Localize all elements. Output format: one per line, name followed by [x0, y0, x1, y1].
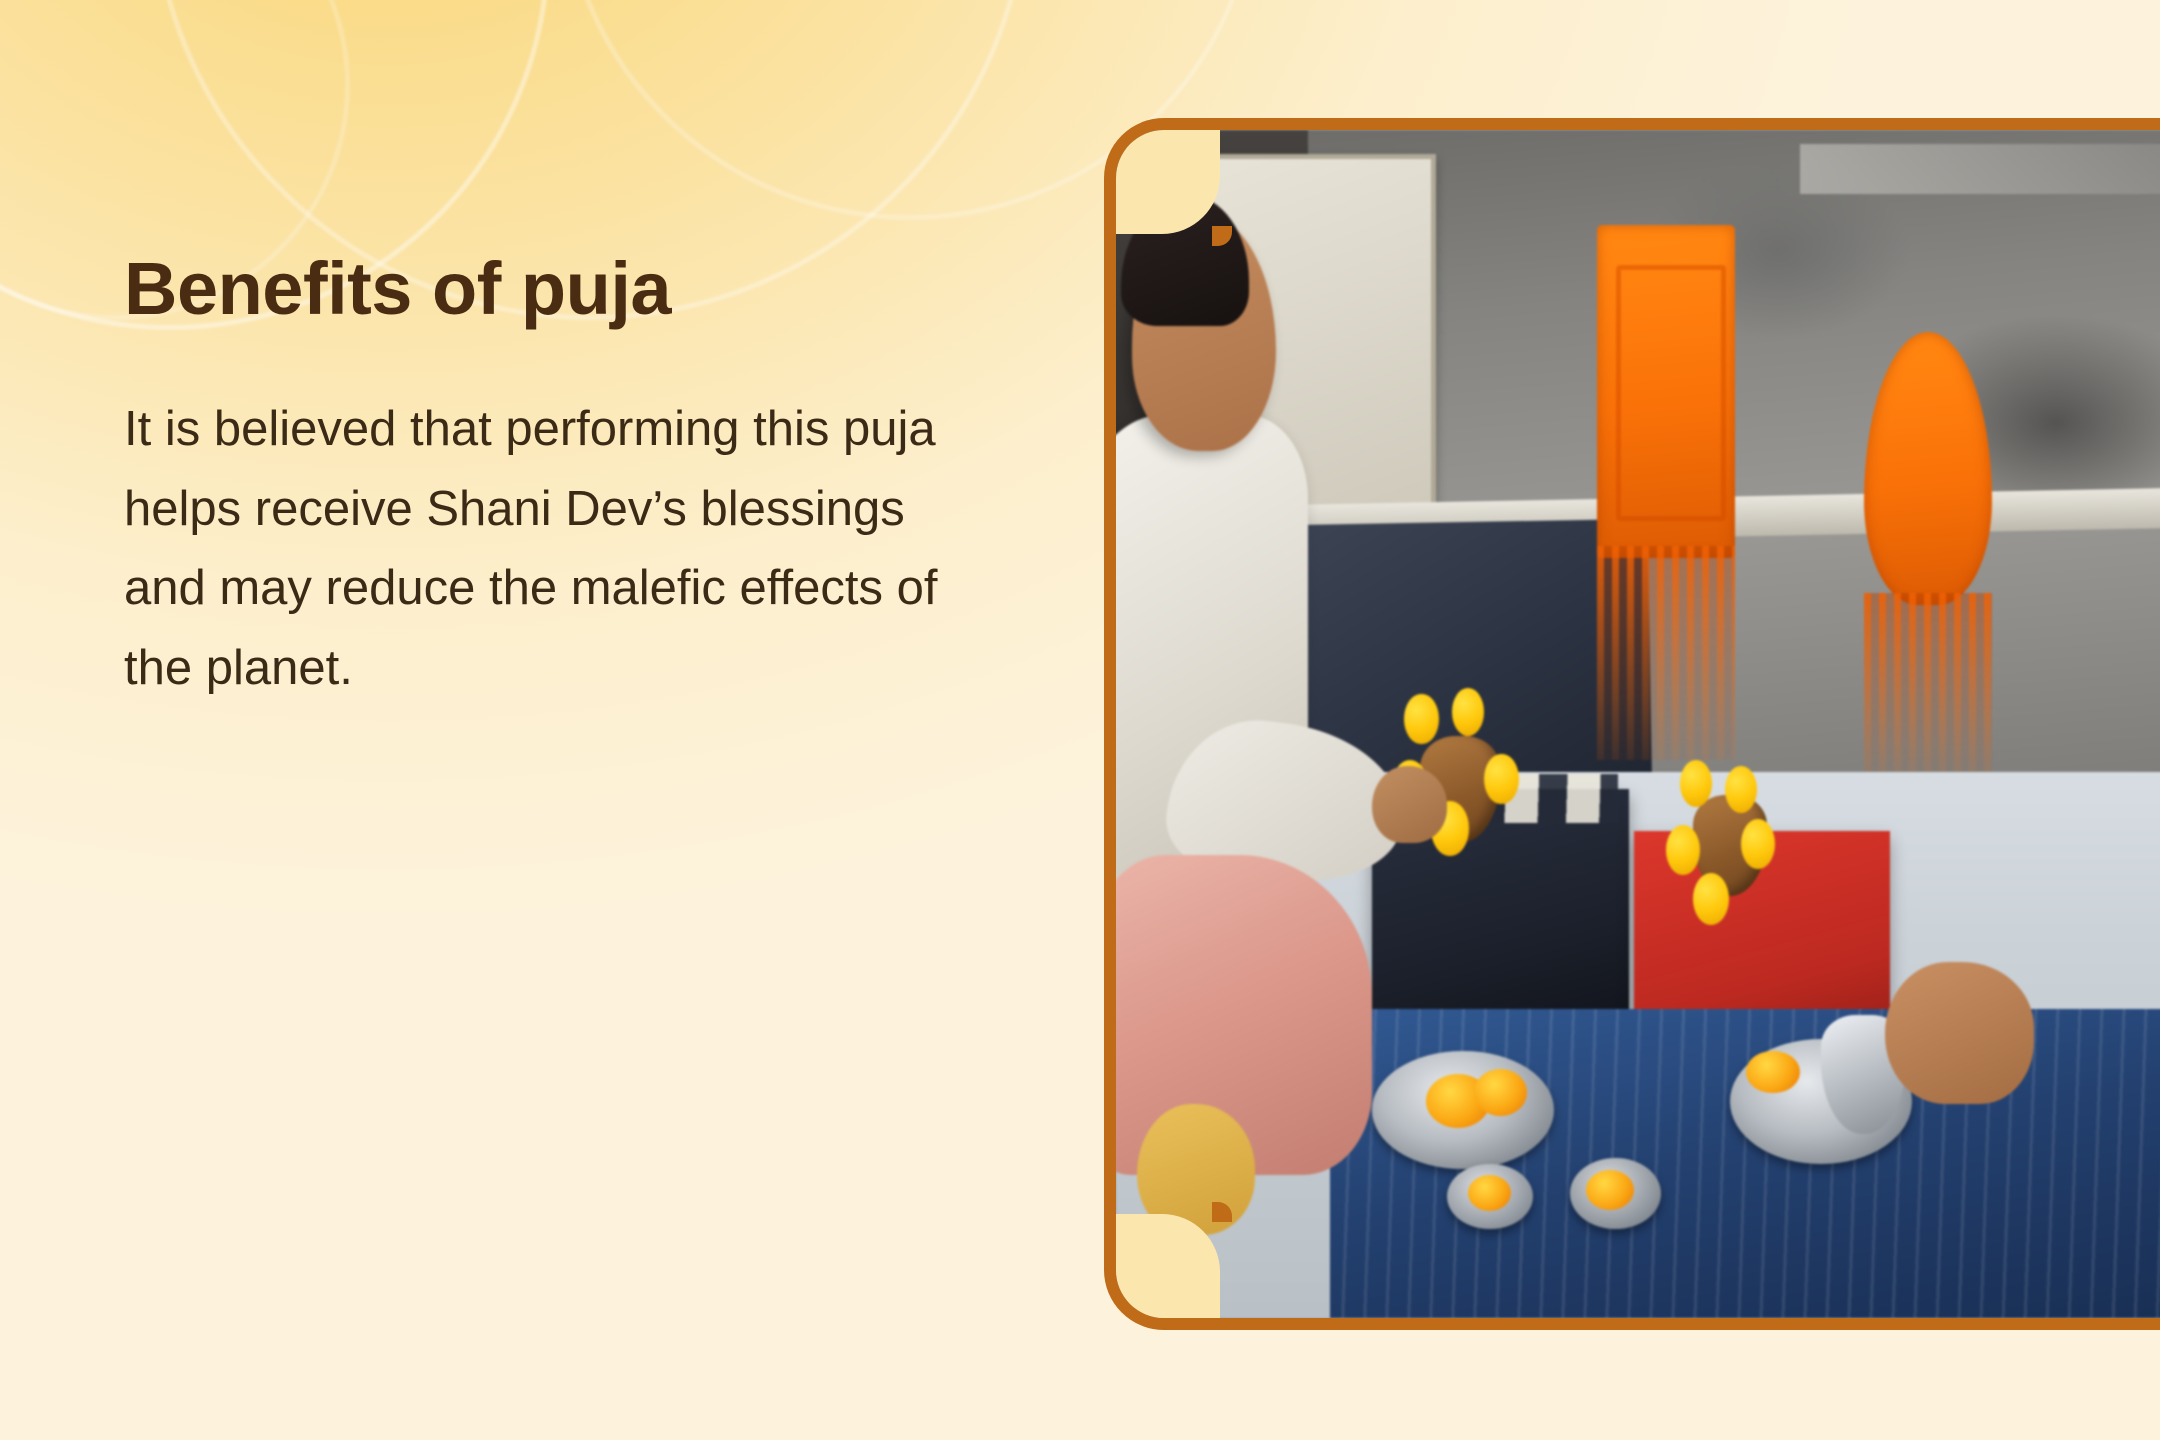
marigold-flower — [1484, 754, 1518, 804]
sindoor-drip-streaks — [1597, 546, 1736, 760]
slide-canvas: Benefits of puja It is believed that per… — [0, 0, 2160, 1440]
marigold-flower — [1666, 825, 1700, 875]
marigold-flower — [1693, 873, 1729, 925]
marigold-flower — [1680, 760, 1712, 808]
offering-sweets — [1746, 1051, 1799, 1094]
puja-photo — [1116, 130, 2160, 1318]
photo-scene — [1116, 130, 2160, 1318]
offering-sweets — [1474, 1069, 1527, 1117]
sindoor-drip-streaks — [1864, 593, 1992, 771]
page-title: Benefits of puja — [124, 250, 1004, 328]
body-paragraph: It is believed that performing this puja… — [124, 390, 984, 708]
temple-signage — [1800, 144, 2160, 194]
text-column: Benefits of puja It is believed that per… — [124, 250, 1004, 708]
sindoor-deity-plaque-center — [1597, 225, 1736, 558]
marigold-flower — [1741, 819, 1775, 869]
photo-frame — [1104, 118, 2160, 1330]
offering-sweets — [1586, 1170, 1634, 1210]
priest-hand — [1372, 766, 1447, 843]
offering-sweets — [1468, 1175, 1511, 1211]
marigold-flower — [1404, 694, 1438, 744]
marigold-flower — [1725, 766, 1757, 814]
devotee-hand — [1885, 962, 2035, 1105]
